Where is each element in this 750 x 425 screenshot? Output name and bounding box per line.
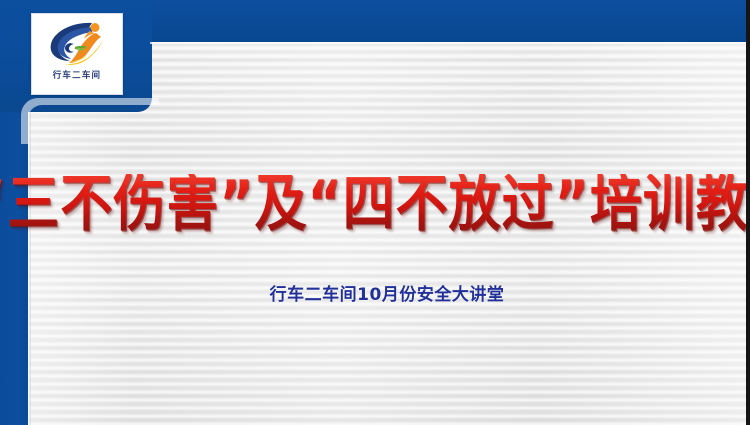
page-subtitle: 行车二车间10月份安全大讲堂 (270, 280, 505, 305)
company-logo-card: 行车二车间 (31, 13, 123, 95)
slide-content-panel: “三不伤害”及“四不放过”培训教案 行车二车间10月份安全大讲堂 (28, 112, 746, 425)
presentation-slide: 行车二车间 “三不伤害”及“四不放过”培训教案 行车二车间10月份安全大讲堂 (0, 0, 750, 425)
page-title: “三不伤害”及“四不放过”培训教案 (0, 174, 750, 235)
panel-top-hairline (150, 42, 750, 44)
slide-right-border (746, 0, 750, 425)
logo-caption: 行车二车间 (53, 69, 102, 82)
company-swoosh-logo-icon (44, 18, 110, 68)
